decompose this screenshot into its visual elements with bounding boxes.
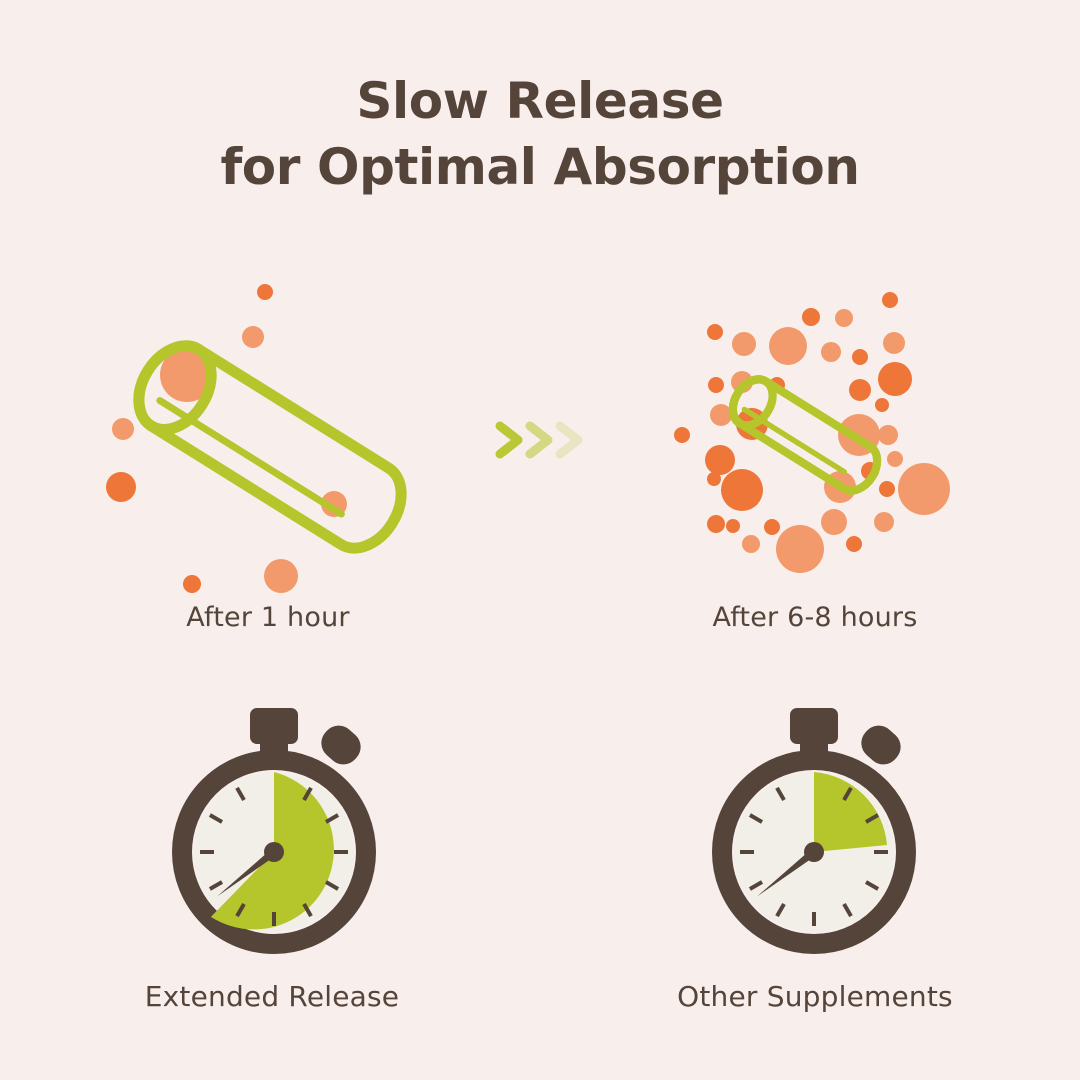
particle-group-right xyxy=(674,292,950,573)
infographic-canvas: Slow Release for Optimal Absorption xyxy=(0,0,1080,1080)
title-line-1: Slow Release xyxy=(0,68,1080,134)
stopwatch-pivot-left xyxy=(264,842,284,862)
stopwatch-extended-release xyxy=(132,700,412,960)
triple-chevron-right-icon xyxy=(492,412,588,468)
caption-after-1-hour: After 1 hour xyxy=(48,602,488,633)
chevron-1 xyxy=(500,426,518,454)
stopwatch-other-supplements xyxy=(672,700,952,960)
page-title: Slow Release for Optimal Absorption xyxy=(0,68,1080,200)
dissolved-pill-illustration xyxy=(648,272,978,602)
intact-pill-illustration xyxy=(105,272,435,602)
caption-other-supplements: Other Supplements xyxy=(585,980,1045,1013)
title-line-2: for Optimal Absorption xyxy=(0,134,1080,200)
chevron-2 xyxy=(530,426,548,454)
stopwatch-pivot-right xyxy=(804,842,824,862)
caption-after-6-8-hours: After 6-8 hours xyxy=(595,602,1035,633)
chevron-3 xyxy=(560,426,578,454)
caption-extended-release: Extended Release xyxy=(42,980,502,1013)
